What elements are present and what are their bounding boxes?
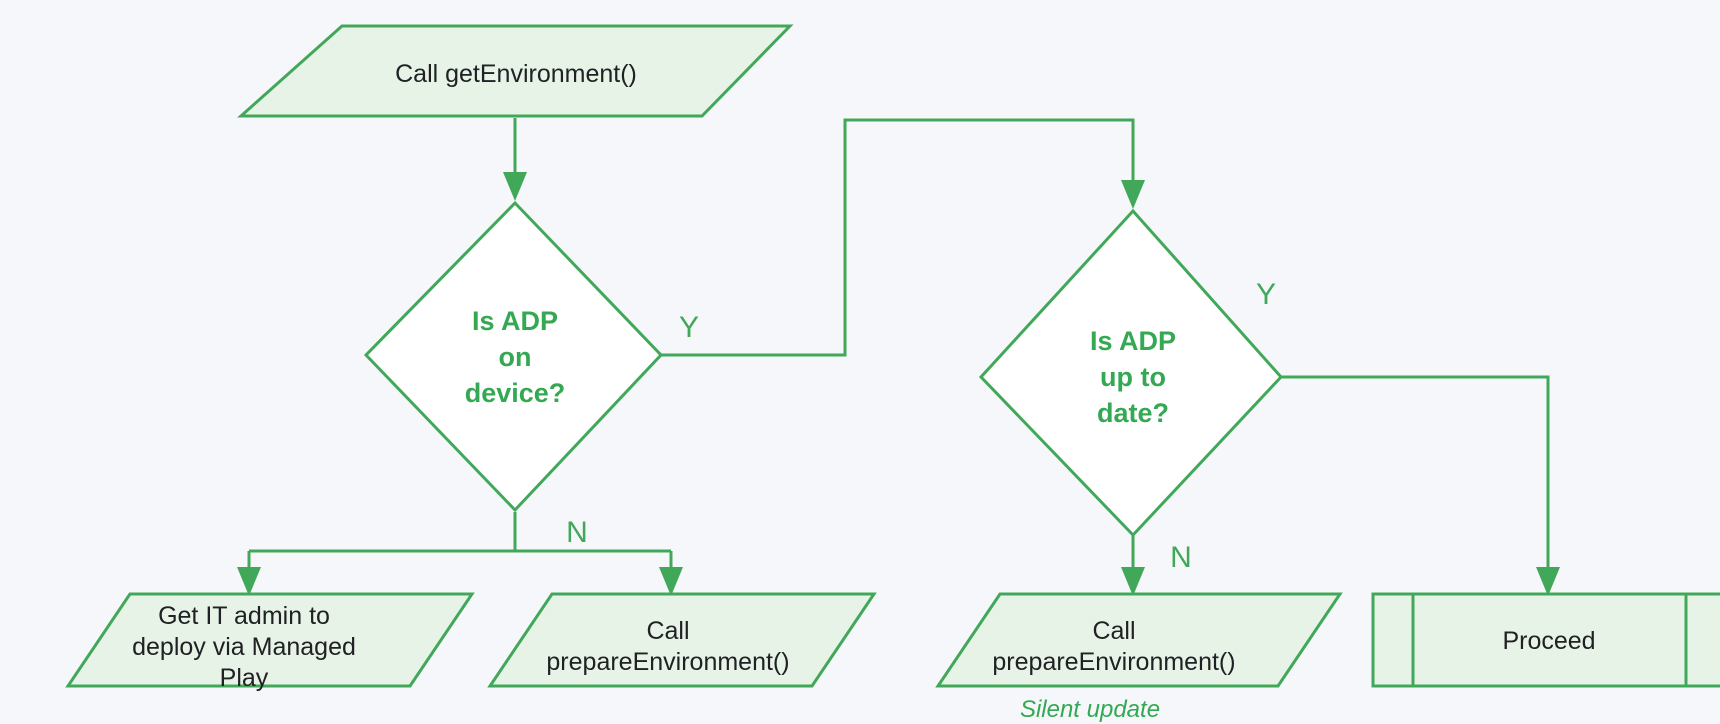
prepare-environment-left-line1: Call [646, 617, 689, 645]
edge-device-no-bus [237, 512, 683, 596]
node-proceed-label: Proceed [1502, 627, 1595, 655]
arrow-head-icon [237, 567, 261, 596]
decision-adp-up-to-date-line1: Is ADP [1090, 326, 1176, 356]
decision-adp-on-device-line3: device? [465, 378, 566, 408]
decision-adp-on-device-line2: on [499, 342, 532, 372]
decision-adp-on-device-line1: Is ADP [472, 306, 558, 336]
prepare-environment-right-line2: prepareEnvironment() [992, 648, 1235, 676]
node-proceed[interactable]: Proceed [1373, 594, 1720, 686]
arrow-head-icon [503, 172, 527, 201]
edge-label-uptodate-yes: Y [1256, 278, 1276, 311]
arrow-head-icon [1121, 567, 1145, 596]
edge-uptodate-yes-to-proceed [1281, 377, 1560, 596]
get-it-admin-line1: Get IT admin to [158, 602, 330, 630]
prepare-environment-left-line2: prepareEnvironment() [546, 648, 789, 676]
flowchart-svg: Call getEnvironment() Is ADP on device? … [0, 0, 1720, 724]
get-it-admin-line2: deploy via Managed [132, 633, 356, 661]
edge-label-uptodate-no: N [1170, 541, 1192, 574]
arrow-head-icon [1121, 180, 1145, 209]
node-call-get-environment-label: Call getEnvironment() [395, 60, 637, 88]
arrow-head-icon [1536, 567, 1560, 596]
silent-update-caption: Silent update [1020, 696, 1160, 723]
edge-label-device-yes: Y [679, 311, 699, 344]
flowchart-canvas: Call getEnvironment() Is ADP on device? … [0, 0, 1720, 724]
prepare-environment-right-line1: Call [1092, 617, 1135, 645]
get-it-admin-line3: Play [220, 664, 269, 692]
node-get-it-admin-deploy[interactable]: Get IT admin to deploy via Managed Play [68, 594, 472, 692]
edge-label-device-no: N [566, 516, 588, 549]
decision-adp-up-to-date-line3: date? [1097, 398, 1169, 428]
node-prepare-environment-left[interactable]: Call prepareEnvironment() [490, 594, 874, 686]
arrow-head-icon [659, 567, 683, 596]
node-decision-adp-up-to-date[interactable]: Is ADP up to date? [981, 211, 1281, 535]
node-call-get-environment[interactable]: Call getEnvironment() [241, 26, 790, 116]
decision-adp-up-to-date-line2: up to [1100, 362, 1166, 392]
node-decision-adp-on-device[interactable]: Is ADP on device? [366, 203, 661, 510]
node-prepare-environment-right[interactable]: Call prepareEnvironment() [938, 594, 1340, 686]
edge-start-to-device-decision [503, 118, 527, 201]
